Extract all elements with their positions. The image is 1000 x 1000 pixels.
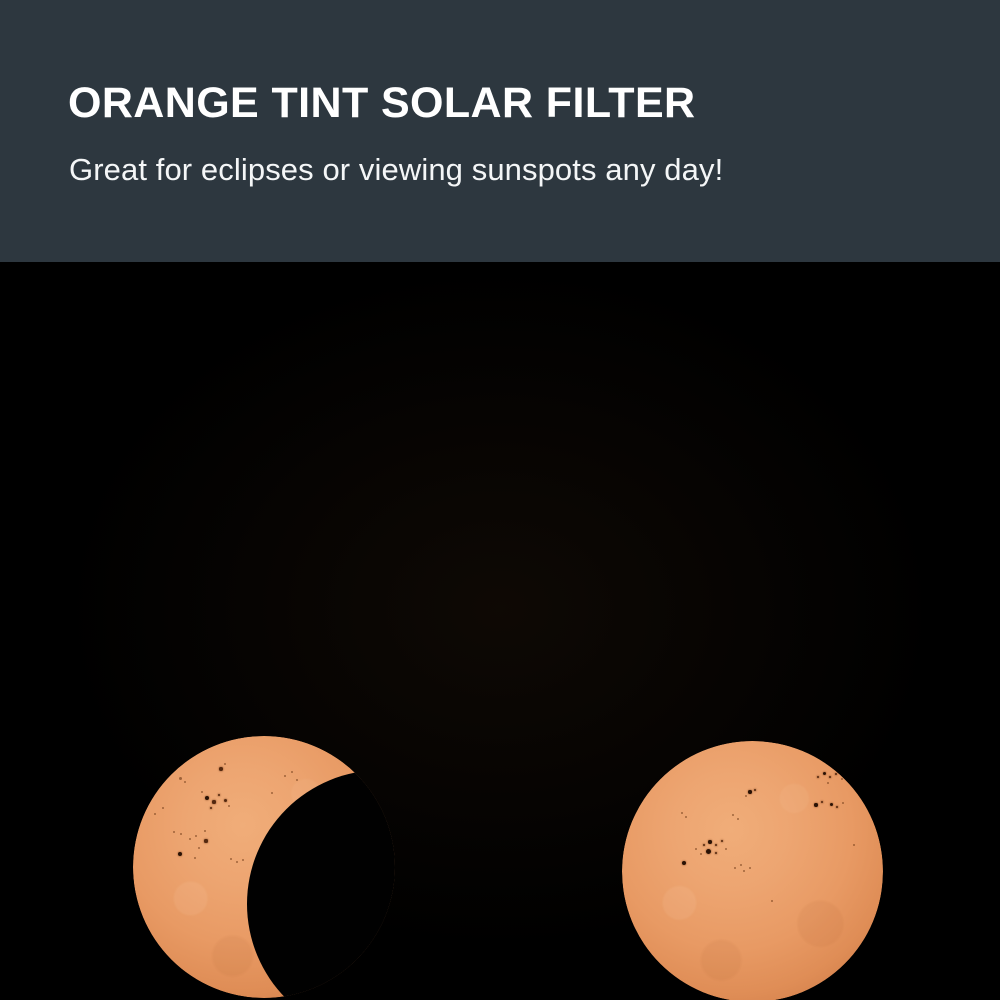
header-text-block: ORANGE TINT SOLAR FILTER Great for eclip…	[68, 0, 968, 262]
sunspot	[219, 767, 222, 770]
sunspot	[737, 818, 739, 820]
sunspot	[685, 816, 687, 818]
sunspot	[212, 800, 215, 803]
product-photo	[0, 262, 1000, 1000]
sunspot	[827, 782, 829, 784]
sunspot	[695, 848, 697, 850]
sunspot	[178, 852, 182, 856]
sunspot	[823, 772, 826, 775]
sunspot	[853, 844, 855, 846]
sunspot	[162, 807, 164, 809]
sunspot	[771, 900, 773, 902]
header-band: ORANGE TINT SOLAR FILTER Great for eclip…	[0, 0, 1000, 262]
sunspot	[204, 839, 207, 842]
sunspot	[847, 770, 849, 772]
sunspot	[224, 763, 226, 765]
sunspot	[179, 777, 182, 780]
sunspot	[271, 792, 273, 794]
sunspot	[748, 790, 751, 793]
sunspot	[194, 857, 196, 859]
page-subtitle: Great for eclipses or viewing sunspots a…	[69, 150, 723, 190]
sunspot	[749, 867, 751, 869]
promo-card: ORANGE TINT SOLAR FILTER Great for eclip…	[0, 0, 1000, 1000]
sunspot	[740, 864, 742, 866]
sunspot	[706, 849, 711, 854]
sunspot	[242, 859, 244, 861]
full-sun-disk	[622, 741, 883, 1000]
sun-limb-darkening	[622, 741, 883, 1000]
sunspot	[291, 771, 293, 773]
page-title: ORANGE TINT SOLAR FILTER	[68, 78, 696, 128]
sunspot	[224, 799, 227, 802]
sunspot	[830, 803, 833, 806]
sunspot	[814, 803, 817, 806]
sunspot	[708, 840, 711, 843]
eclipsed-sun-disk	[133, 736, 395, 998]
sunspot	[173, 831, 175, 833]
sunspot	[230, 858, 232, 860]
sunspot	[204, 830, 206, 832]
